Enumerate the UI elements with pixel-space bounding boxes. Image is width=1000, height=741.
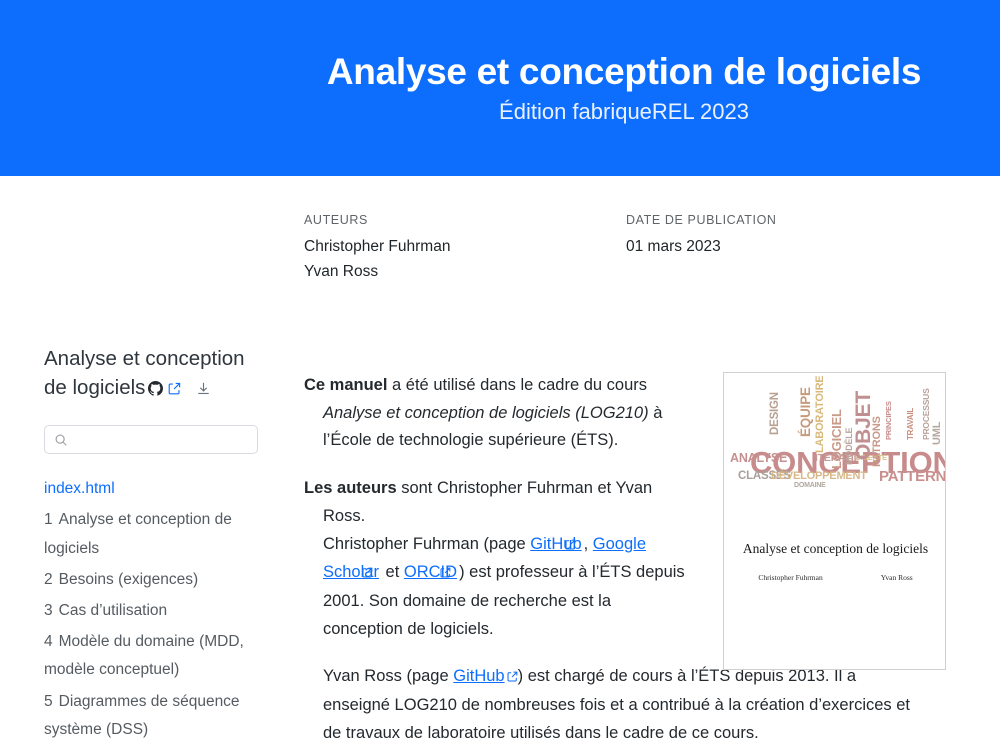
sidebar: Analyse et conception de logiciels index… xyxy=(44,344,266,741)
metadata-date-block: DATE DE PUBLICATION 01 mars 2023 xyxy=(626,213,777,284)
sidebar-item-1[interactable]: 1Analyse et conception de logiciels xyxy=(44,506,266,562)
course-title-italic: Analyse et conception de logiciels (LOG2… xyxy=(323,404,649,422)
cover-author-left: Christopher Fuhrman xyxy=(758,573,822,582)
page-subtitle: Édition fabriqueREL 2023 xyxy=(499,99,749,125)
github-icon[interactable] xyxy=(148,381,163,396)
page-header-banner: Analyse et conception de logiciels Éditi… xyxy=(0,0,1000,176)
sidebar-item-2[interactable]: 2Besoins (exigences) xyxy=(44,566,266,594)
word-cloud: CONCEPTION ANALYSE DESIGN ÉQUIPE LABORAT… xyxy=(724,395,946,525)
publication-date-value: 01 mars 2023 xyxy=(626,234,777,259)
publication-date-label: DATE DE PUBLICATION xyxy=(626,213,777,228)
sidebar-item-5-number: 5 xyxy=(44,693,53,710)
sidebar-item-2-number: 2 xyxy=(44,571,53,588)
cover-title: Analyse et conception de logiciels xyxy=(724,541,946,557)
link-github-ross[interactable]: GitHub xyxy=(453,667,504,685)
download-icon[interactable] xyxy=(196,381,211,396)
paragraph-auteurs: Les auteurs sont Christopher Fuhrman et … xyxy=(304,475,694,643)
cloud-word-processus: PROCESSUS xyxy=(921,388,931,440)
cover-authors: Christopher Fuhrman Yvan Ross xyxy=(724,573,946,582)
cloud-word-analyse: ANALYSE xyxy=(730,451,787,465)
sidebar-title: Analyse et conception de logiciels xyxy=(44,344,266,402)
sidebar-item-4-number: 4 xyxy=(44,633,53,650)
author-name: Christopher Fuhrman xyxy=(304,234,626,259)
cover-author-right: Yvan Ross xyxy=(881,573,913,582)
sidebar-item-index[interactable]: index.html xyxy=(44,475,266,503)
sidebar-nav: index.html 1Analyse et conception de log… xyxy=(44,475,266,741)
main-content: Ce manuel a été utilisé dans le cadre du… xyxy=(304,372,694,741)
fuhrman-text-a: Christopher Fuhrman (page xyxy=(323,535,530,553)
cloud-word-patterns: PATTERNS xyxy=(879,468,946,485)
sidebar-item-1-label: Analyse et conception de logiciels xyxy=(44,511,232,556)
page-root: Analyse et conception de logiciels Éditi… xyxy=(0,0,1000,741)
cloud-word-modele: MODÈLE xyxy=(844,428,854,465)
cloud-word-principes: PRINCIPES xyxy=(884,401,893,440)
external-link-icon xyxy=(507,664,518,692)
header-text-block: Analyse et conception de logiciels Éditi… xyxy=(304,0,944,176)
authors-label: AUTEURS xyxy=(304,213,626,228)
paragraph-manuel-text-a: a été utilisé dans le cadre du cours xyxy=(387,376,647,394)
cloud-word-domaine: DOMAINE xyxy=(794,482,826,489)
sidebar-item-3-label: Cas d’utilisation xyxy=(59,602,168,619)
sidebar-title-icons xyxy=(148,381,211,396)
fuhrman-text-c: et xyxy=(381,563,404,581)
cloud-word-developpement: DÉVELOPPEMENT xyxy=(771,470,867,482)
cloud-word-uml: UML xyxy=(931,422,943,445)
metadata-row: AUTEURS Christopher Fuhrman Yvan Ross DA… xyxy=(304,213,924,284)
sidebar-item-3-number: 3 xyxy=(44,602,53,619)
sidebar-title-text: Analyse et conception de logiciels xyxy=(44,347,245,399)
cloud-word-travail: TRAVAIL xyxy=(906,408,915,440)
book-cover-image: CONCEPTION ANALYSE DESIGN ÉQUIPE LABORAT… xyxy=(723,372,946,670)
author-name: Yvan Ross xyxy=(304,259,626,284)
search-box[interactable] xyxy=(44,425,258,454)
sidebar-item-4[interactable]: 4Modèle du domaine (MDD, modèle conceptu… xyxy=(44,628,266,684)
paragraph-ross: Yvan Ross (page GitHub) est chargé de co… xyxy=(304,663,916,741)
metadata-authors-block: AUTEURS Christopher Fuhrman Yvan Ross xyxy=(304,213,626,284)
sidebar-item-4-label: Modèle du domaine (MDD, modèle conceptue… xyxy=(44,633,244,678)
paragraph-auteurs-lead: Les auteurs xyxy=(304,479,397,497)
external-link-icon[interactable] xyxy=(168,382,181,395)
cloud-word-design: DESIGN xyxy=(769,392,781,435)
cloud-word-logiciel: LOGICIEL xyxy=(829,409,844,469)
search-icon xyxy=(54,433,68,447)
sidebar-item-5-label: Diagrammes de séquence système (DSS) xyxy=(44,693,240,738)
cloud-word-laboratoire: LABORATOIRE xyxy=(814,376,826,453)
paragraph-manuel-lead: Ce manuel xyxy=(304,376,387,394)
sidebar-item-2-label: Besoins (exigences) xyxy=(59,571,199,588)
sidebar-item-5[interactable]: 5Diagrammes de séquence système (DSS) xyxy=(44,688,266,741)
ross-text-a: Yvan Ross (page xyxy=(323,667,453,685)
paragraph-manuel: Ce manuel a été utilisé dans le cadre du… xyxy=(304,372,694,455)
sidebar-item-1-number: 1 xyxy=(44,511,53,528)
search-input[interactable] xyxy=(75,428,245,452)
cloud-word-equipe: ÉQUIPE xyxy=(798,387,813,437)
fuhrman-text-b: , xyxy=(584,535,593,553)
cloud-word-objet: OBJET xyxy=(852,391,876,460)
sidebar-item-3[interactable]: 3Cas d’utilisation xyxy=(44,597,266,625)
page-title: Analyse et conception de logiciels xyxy=(327,51,921,94)
